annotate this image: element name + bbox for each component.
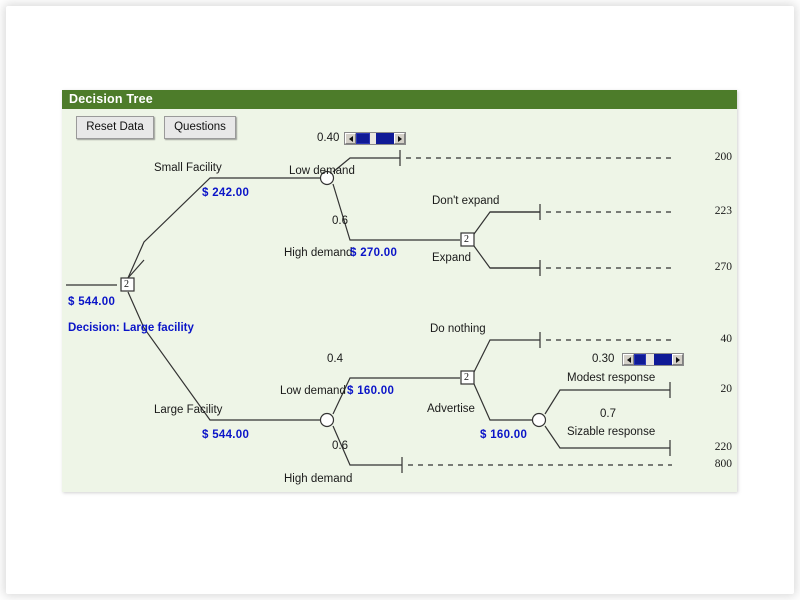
branch-label-small-high-demand: High demand [284, 247, 352, 259]
slider-gap[interactable] [646, 354, 654, 365]
branch-label-small-low-demand: Low demand [289, 165, 355, 177]
branch-label-small-facility: Small Facility [154, 162, 222, 174]
payoff-modest-response: 20 [698, 383, 732, 395]
slider-right-arrow-icon[interactable] [394, 133, 405, 144]
branch-label-large-low-demand: Low demand [280, 385, 346, 397]
payoff-small-low-demand: 200 [698, 151, 732, 163]
edge-small-highdemand [333, 184, 460, 240]
payoff-do-nothing: 40 [698, 333, 732, 345]
prob-label-small-high-demand: 0.6 [332, 215, 348, 227]
payoff-dont-expand: 223 [698, 205, 732, 217]
chance-node-advertise[interactable] [533, 414, 546, 427]
prob-label-large-high-demand: 0.6 [332, 440, 348, 452]
modest-response-probability-slider[interactable] [622, 353, 684, 366]
branch-label-do-nothing: Do nothing [430, 323, 486, 335]
edge-expand [474, 246, 540, 268]
edge-advertise [474, 384, 532, 420]
edge-root-upper-a [128, 260, 144, 278]
page-root: Decision Tree Reset Data Questions [0, 0, 800, 600]
edge-root-to-large [128, 292, 320, 420]
low-demand-probability-slider[interactable] [344, 132, 406, 145]
branch-label-dont-expand: Don't expand [432, 195, 499, 207]
slider-thumb[interactable] [634, 354, 646, 365]
slider-track[interactable] [376, 133, 394, 144]
branch-label-expand: Expand [432, 252, 471, 264]
payoff-large-high-demand: 800 [698, 458, 732, 470]
slider-left-arrow-icon[interactable] [345, 133, 356, 144]
branch-value-small-high-demand: $ 270.00 [350, 247, 397, 259]
prob-label-modest-response: 0.30 [592, 353, 614, 365]
prob-label-small-low-demand: 0.40 [317, 132, 339, 144]
slider-thumb[interactable] [356, 133, 370, 144]
slider-right-arrow-icon[interactable] [672, 354, 683, 365]
slider-track[interactable] [654, 354, 672, 365]
decision-node-expand-number: 2 [464, 234, 469, 245]
branch-value-advertise: $ 160.00 [480, 429, 527, 441]
decision-node-root-number: 2 [124, 279, 129, 290]
prob-label-large-low-demand: 0.4 [327, 353, 343, 365]
decision-node-advertise-number: 2 [464, 372, 469, 383]
edge-dontexpand [474, 212, 540, 234]
tree-canvas: 2 $ 544.00 Decision: Large facility Smal… [62, 90, 737, 492]
branch-label-large-high-demand: High demand [284, 473, 352, 485]
branch-label-sizable-response: Sizable response [567, 426, 655, 438]
chance-node-large-facility[interactable] [321, 414, 334, 427]
branch-value-small-facility: $ 242.00 [202, 187, 249, 199]
root-value: $ 544.00 [68, 296, 115, 308]
branch-value-large-low-demand: $ 160.00 [347, 385, 394, 397]
root-decision-text: Decision: Large facility [68, 322, 194, 334]
branch-value-large-facility: $ 544.00 [202, 429, 249, 441]
slider-left-arrow-icon[interactable] [623, 354, 634, 365]
payoff-expand: 270 [698, 261, 732, 273]
prob-label-sizable-response: 0.7 [600, 408, 616, 420]
decision-tree-applet: Decision Tree Reset Data Questions [62, 90, 737, 492]
payoff-sizable-response: 220 [698, 441, 732, 453]
branch-label-modest-response: Modest response [567, 372, 655, 384]
branch-label-advertise: Advertise [427, 403, 475, 415]
branch-label-large-facility: Large Facility [154, 404, 222, 416]
edge-donothing [474, 340, 540, 372]
